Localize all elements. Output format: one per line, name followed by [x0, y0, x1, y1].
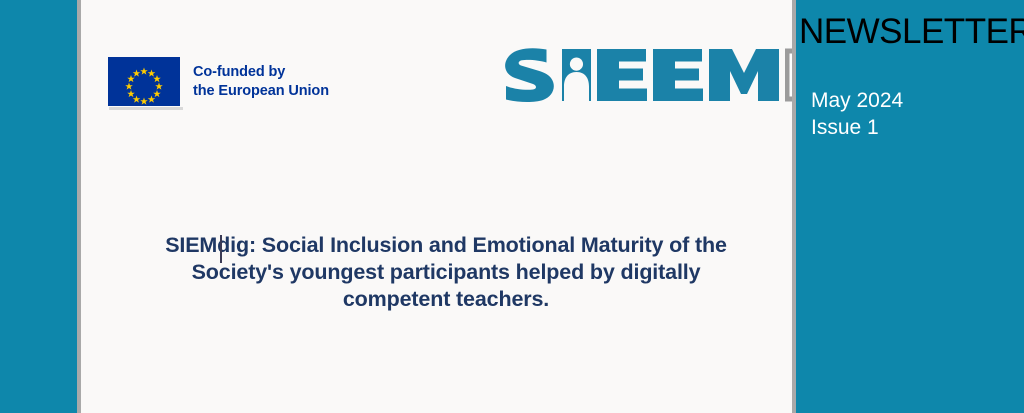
left-accent-panel — [0, 0, 77, 413]
issue-info: May 2024 Issue 1 — [811, 87, 903, 141]
eu-stars-icon — [108, 57, 180, 106]
issue-number: Issue 1 — [811, 114, 903, 141]
newsletter-heading: NEWSLETTER — [799, 11, 1024, 53]
eu-flag-shadow — [109, 107, 183, 110]
siemdig-wordmark-icon — [499, 43, 781, 107]
eu-cofunding-line-1: Co-funded by — [193, 63, 329, 82]
text-cursor-caret — [220, 235, 222, 263]
document-page: Co-funded by the European Union — [81, 0, 792, 413]
title-block: SIEMdig: Social Inclusion and Emotional … — [136, 232, 756, 313]
eu-cofunding-text: Co-funded by the European Union — [193, 63, 329, 101]
eu-cofunding-line-2: the European Union — [193, 82, 329, 101]
issue-date: May 2024 — [811, 87, 903, 114]
right-accent-panel — [796, 0, 1024, 413]
eu-cofunding-logo: Co-funded by the European Union — [108, 57, 329, 106]
eu-flag — [108, 57, 180, 106]
page-title: SIEMdig: Social Inclusion and Emotional … — [136, 232, 756, 313]
newsletter-header-page: Co-funded by the European Union — [0, 0, 1024, 413]
